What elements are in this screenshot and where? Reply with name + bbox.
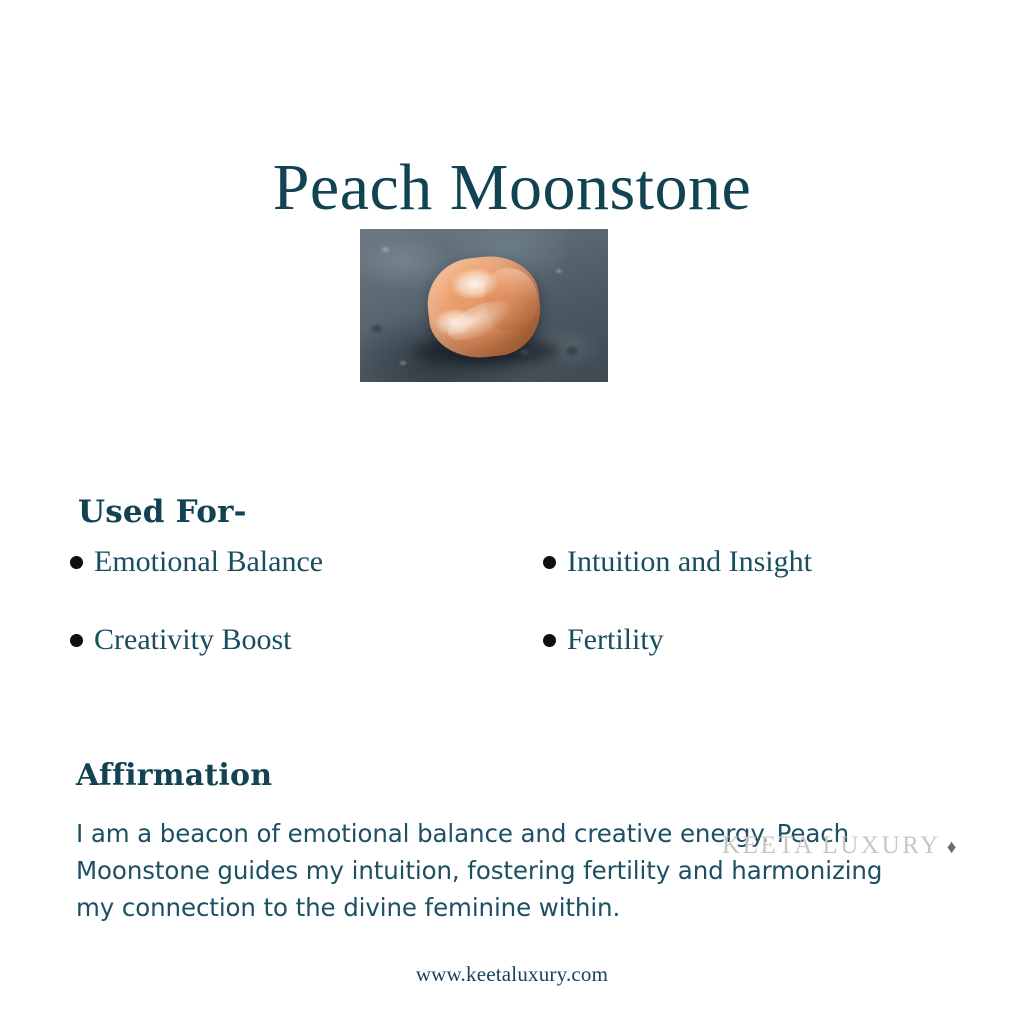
bullet-icon <box>543 556 556 569</box>
bullet-icon <box>70 556 83 569</box>
list-item: Fertility <box>543 623 943 701</box>
page-title: Peach Moonstone <box>0 152 1024 225</box>
slate-speck <box>556 269 562 273</box>
affirmation-heading: Affirmation <box>76 758 272 793</box>
used-for-row: Creativity Boost Fertility <box>70 623 950 701</box>
affirmation-text: I am a beacon of emotional balance and c… <box>76 815 906 926</box>
stone-photo <box>360 229 608 382</box>
diamond-icon: ♦ <box>947 837 959 858</box>
used-for-label: Emotional Balance <box>94 545 323 578</box>
slate-speck <box>566 347 578 355</box>
slate-speck <box>400 361 406 365</box>
used-for-list: Emotional Balance Intuition and Insight … <box>70 545 950 701</box>
footer-website-url: www.keetaluxury.com <box>0 962 1024 987</box>
slate-speck <box>372 325 382 332</box>
used-for-label: Fertility <box>567 623 664 656</box>
used-for-label: Creativity Boost <box>94 623 292 656</box>
slate-speck <box>382 247 389 252</box>
list-item: Intuition and Insight <box>543 545 943 623</box>
bullet-icon <box>543 634 556 647</box>
list-item: Creativity Boost <box>70 623 543 701</box>
page-canvas: Peach Moonstone Used For- Emotional Bala… <box>0 0 1024 1024</box>
used-for-row: Emotional Balance Intuition and Insight <box>70 545 950 623</box>
used-for-heading: Used For- <box>78 494 247 530</box>
list-item: Emotional Balance <box>70 545 543 623</box>
stone-facet <box>482 266 540 333</box>
used-for-label: Intuition and Insight <box>567 545 812 578</box>
bullet-icon <box>70 634 83 647</box>
